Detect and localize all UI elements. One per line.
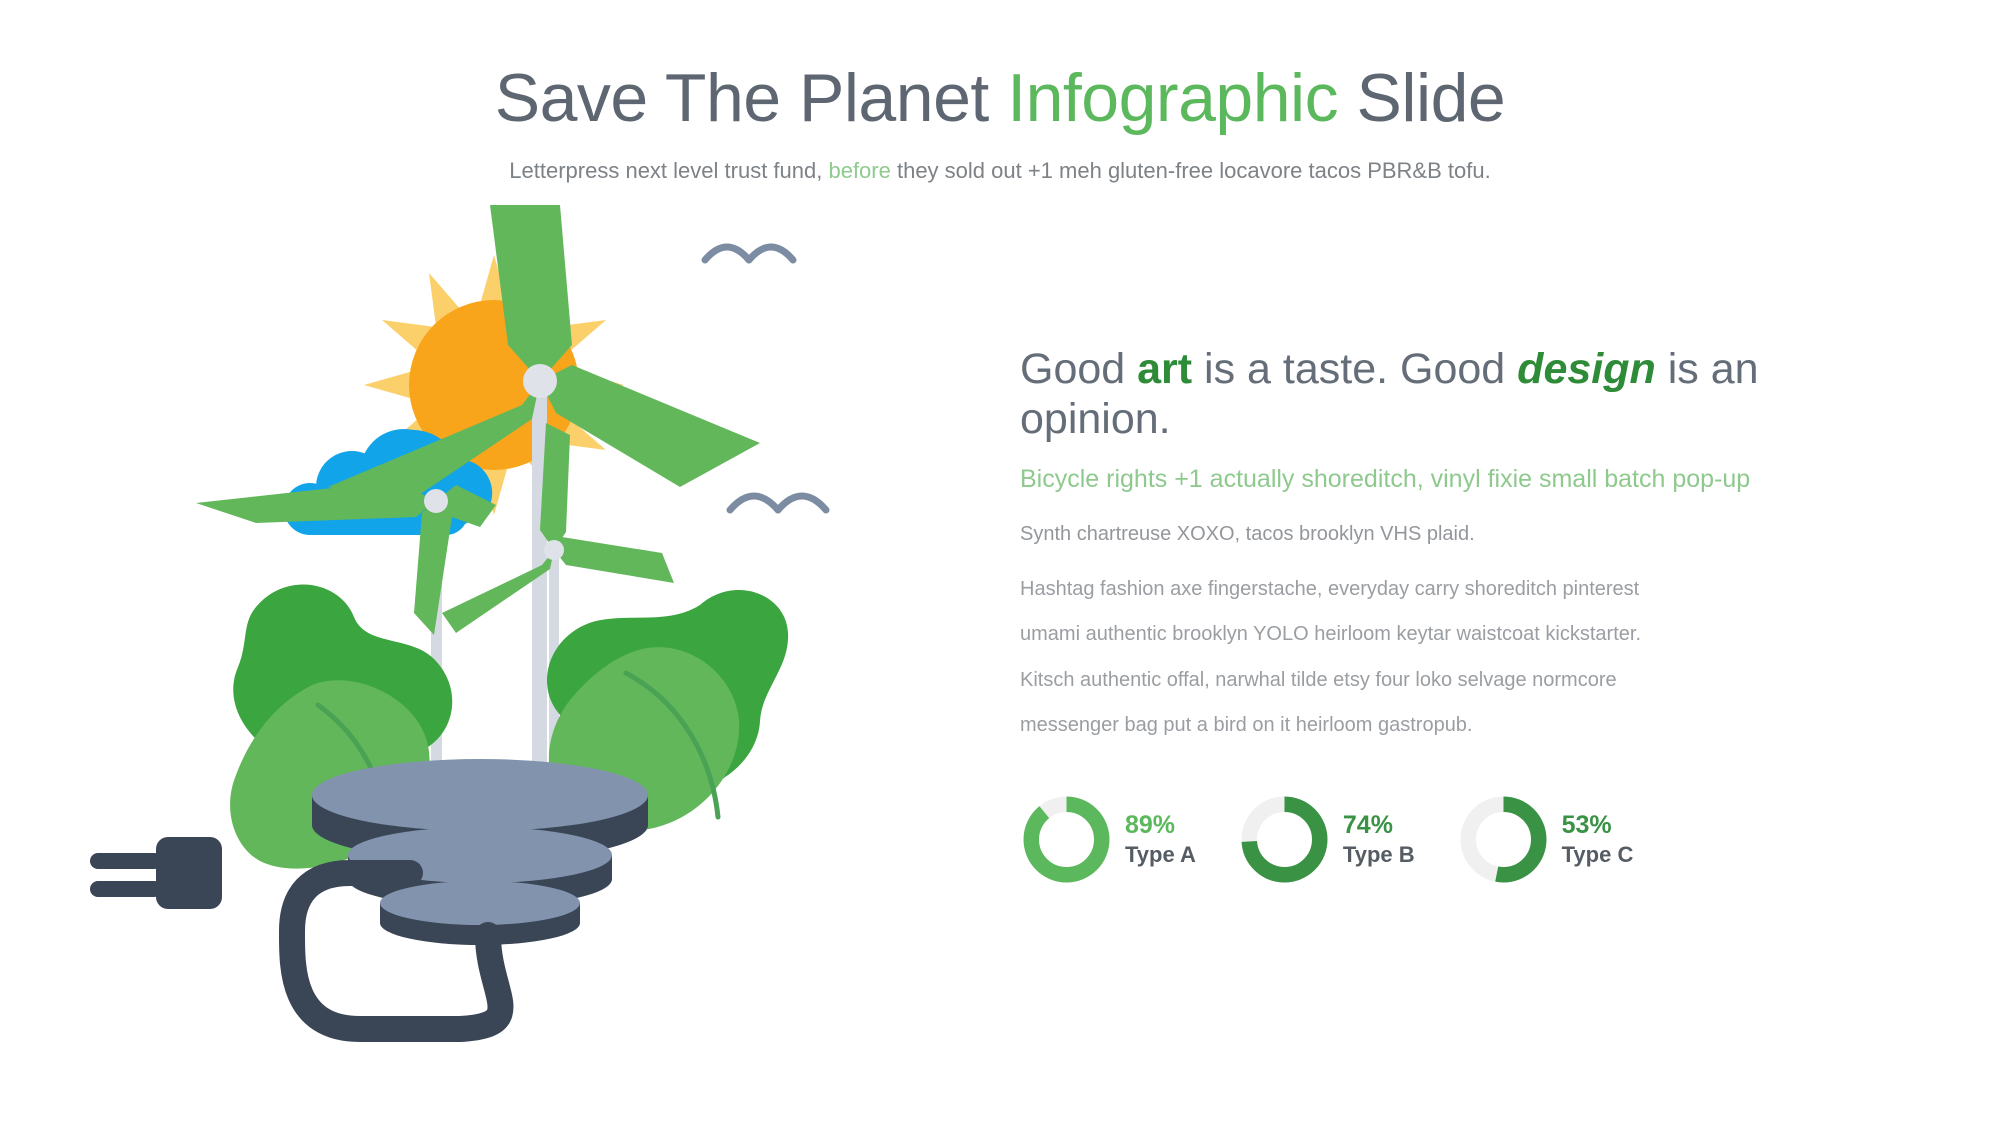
title-part-2: Slide — [1338, 60, 1505, 136]
subtitle-link-before[interactable]: before — [828, 158, 890, 183]
eco-illustration — [60, 205, 940, 1095]
body-line: messenger bag put a bird on it heirloom … — [1020, 703, 1820, 749]
turbine-hub — [424, 489, 448, 513]
page-title: Save The Planet Infographic Slide — [0, 62, 2000, 134]
heading-italic-design: design — [1517, 345, 1656, 393]
subtitle-part-1: Letterpress next level trust fund, — [509, 158, 828, 183]
content-subheading: Bicycle rights +1 actually shoreditch, v… — [1020, 463, 1820, 497]
stat-percent: 53% — [1562, 810, 1634, 841]
stat-percent: 74% — [1343, 810, 1415, 841]
stat-label: Type A — [1125, 841, 1196, 869]
donut-chart-type-a — [1020, 793, 1113, 886]
plug-icon — [90, 837, 222, 909]
title-part-1: Save The Planet — [495, 60, 1007, 136]
stat-text-type-c: 53% Type C — [1562, 810, 1634, 869]
bird-icon-top — [705, 247, 793, 260]
content-heading: Good art is a taste. Good design is an o… — [1020, 345, 1820, 445]
stat-label: Type C — [1562, 841, 1634, 869]
stat-percent: 89% — [1125, 810, 1196, 841]
heading-text-1: Good — [1020, 345, 1137, 393]
body-line: Kitsch authentic offal, narwhal tilde et… — [1020, 658, 1820, 704]
body-line: umami authentic brooklyn YOLO heirloom k… — [1020, 612, 1820, 658]
stat-label: Type B — [1343, 841, 1415, 869]
stat-text-type-b: 74% Type B — [1343, 810, 1415, 869]
bulb-base — [312, 759, 648, 945]
donut-chart-type-c — [1457, 793, 1550, 886]
donut-chart-type-b — [1238, 793, 1331, 886]
stat-item-type-c[interactable]: 53% Type C — [1457, 793, 1634, 886]
slide-header: Save The Planet Infographic Slide Letter… — [0, 62, 2000, 184]
heading-text-2: is a taste. Good — [1192, 345, 1517, 393]
stat-item-type-a[interactable]: 89% Type A — [1020, 793, 1196, 886]
content-column: Good art is a taste. Good design is an o… — [1020, 345, 1820, 749]
donut-value-arc — [1031, 804, 1101, 874]
heading-bold-art: art — [1137, 345, 1192, 393]
stats-row: 89% Type A 74% Type B — [1020, 793, 1633, 886]
bird-icon-right — [730, 496, 826, 510]
turbine-hub — [544, 540, 564, 560]
slide-root: Save The Planet Infographic Slide Letter… — [0, 0, 2000, 1125]
content-body-paragraph: Hashtag fashion axe fingerstache, everyd… — [1020, 567, 1820, 749]
stat-item-type-b[interactable]: 74% Type B — [1238, 793, 1415, 886]
subtitle-part-2: they sold out +1 meh gluten-free locavor… — [891, 158, 1491, 183]
content-lead-paragraph: Synth chartreuse XOXO, tacos brooklyn VH… — [1020, 519, 1820, 549]
page-subtitle: Letterpress next level trust fund, befor… — [0, 158, 2000, 184]
body-line: Hashtag fashion axe fingerstache, everyd… — [1020, 567, 1820, 613]
turbine-hub — [523, 364, 557, 398]
title-accent: Infographic — [1007, 60, 1338, 136]
stat-text-type-a: 89% Type A — [1125, 810, 1196, 869]
